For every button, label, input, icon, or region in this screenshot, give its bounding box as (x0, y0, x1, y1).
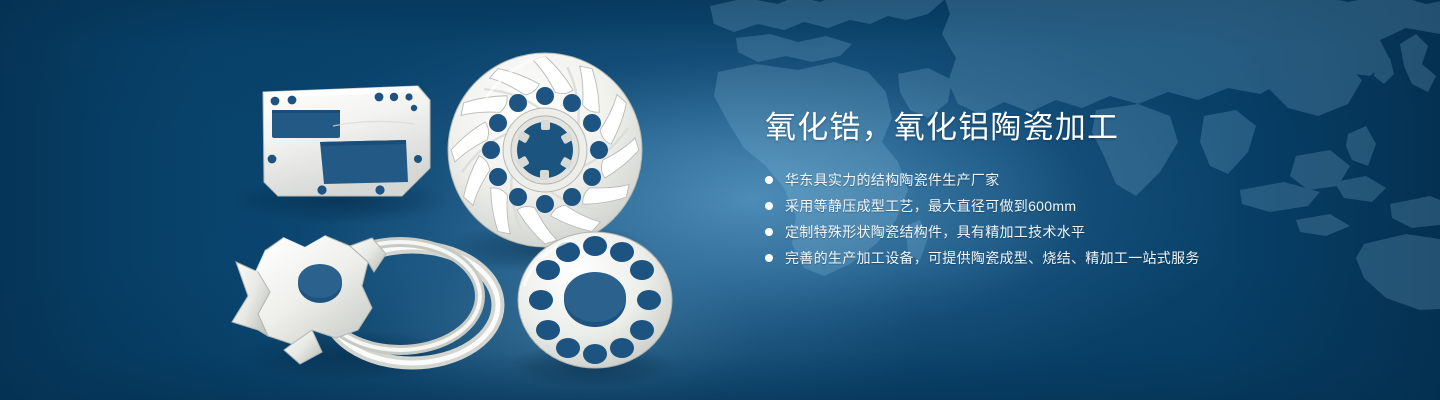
list-item: 完善的生产加工设备，可提供陶瓷成型、烧结、精加工一站式服务 (765, 248, 1385, 268)
list-item: 定制特殊形状陶瓷结构件，具有精加工技术水平 (765, 222, 1385, 242)
banner-copy: 氧化锆，氧化铝陶瓷加工 华东具实力的结构陶瓷件生产厂家 采用等静压成型工艺，最大… (765, 108, 1385, 274)
feature-text: 完善的生产加工设备，可提供陶瓷成型、烧结、精加工一站式服务 (785, 248, 1200, 268)
bullet-dot-icon (765, 228, 773, 236)
feature-text: 采用等静压成型工艺，最大直径可做到600mm (785, 196, 1076, 216)
list-item: 华东具实力的结构陶瓷件生产厂家 (765, 170, 1385, 190)
list-item: 采用等静压成型工艺，最大直径可做到600mm (765, 196, 1385, 216)
feature-text: 华东具实力的结构陶瓷件生产厂家 (785, 170, 1000, 190)
page-title: 氧化锆，氧化铝陶瓷加工 (765, 108, 1385, 148)
bullet-dot-icon (765, 176, 773, 184)
hero-banner: 氧化锆，氧化铝陶瓷加工 华东具实力的结构陶瓷件生产厂家 采用等静压成型工艺，最大… (0, 0, 1440, 400)
feature-list: 华东具实力的结构陶瓷件生产厂家 采用等静压成型工艺，最大直径可做到600mm 定… (765, 170, 1385, 268)
feature-text: 定制特殊形状陶瓷结构件，具有精加工技术水平 (785, 222, 1085, 242)
bullet-dot-icon (765, 254, 773, 262)
bullet-dot-icon (765, 202, 773, 210)
